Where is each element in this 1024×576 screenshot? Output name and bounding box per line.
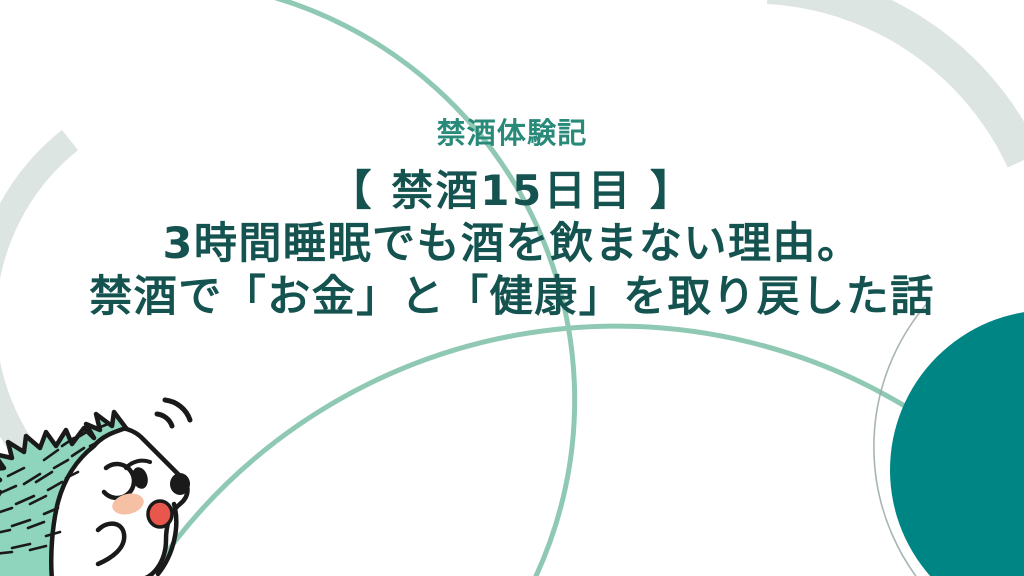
eyebrow-label: 禁酒体験記 xyxy=(0,118,1024,150)
circle-bottom-right-teal xyxy=(890,310,1024,576)
slide-canvas: 禁酒体験記 【 禁酒15日目 】 3時間睡眠でも酒を飲まない理由。 禁酒で「お金… xyxy=(0,0,1024,576)
hedgehog-mascot xyxy=(0,384,244,576)
headline-line-3: 禁酒で「お金」と「健康」を取り戻した話 xyxy=(0,272,1024,323)
arc-bottom-right-thin-gray xyxy=(874,300,936,576)
mascot-mouth xyxy=(148,501,172,527)
headline-line-1: 【 禁酒15日目 】 xyxy=(0,166,1024,216)
motion-lines-icon xyxy=(157,400,190,426)
headline-line-2: 3時間睡眠でも酒を飲まない理由。 xyxy=(0,219,1024,270)
title-block: 禁酒体験記 【 禁酒15日目 】 3時間睡眠でも酒を飲まない理由。 禁酒で「お金… xyxy=(0,118,1024,323)
mascot-nose xyxy=(170,473,190,495)
arc-bottom-left-mint xyxy=(150,326,944,576)
headline: 【 禁酒15日目 】 3時間睡眠でも酒を飲まない理由。 禁酒で「お金」と「健康」… xyxy=(0,166,1024,323)
